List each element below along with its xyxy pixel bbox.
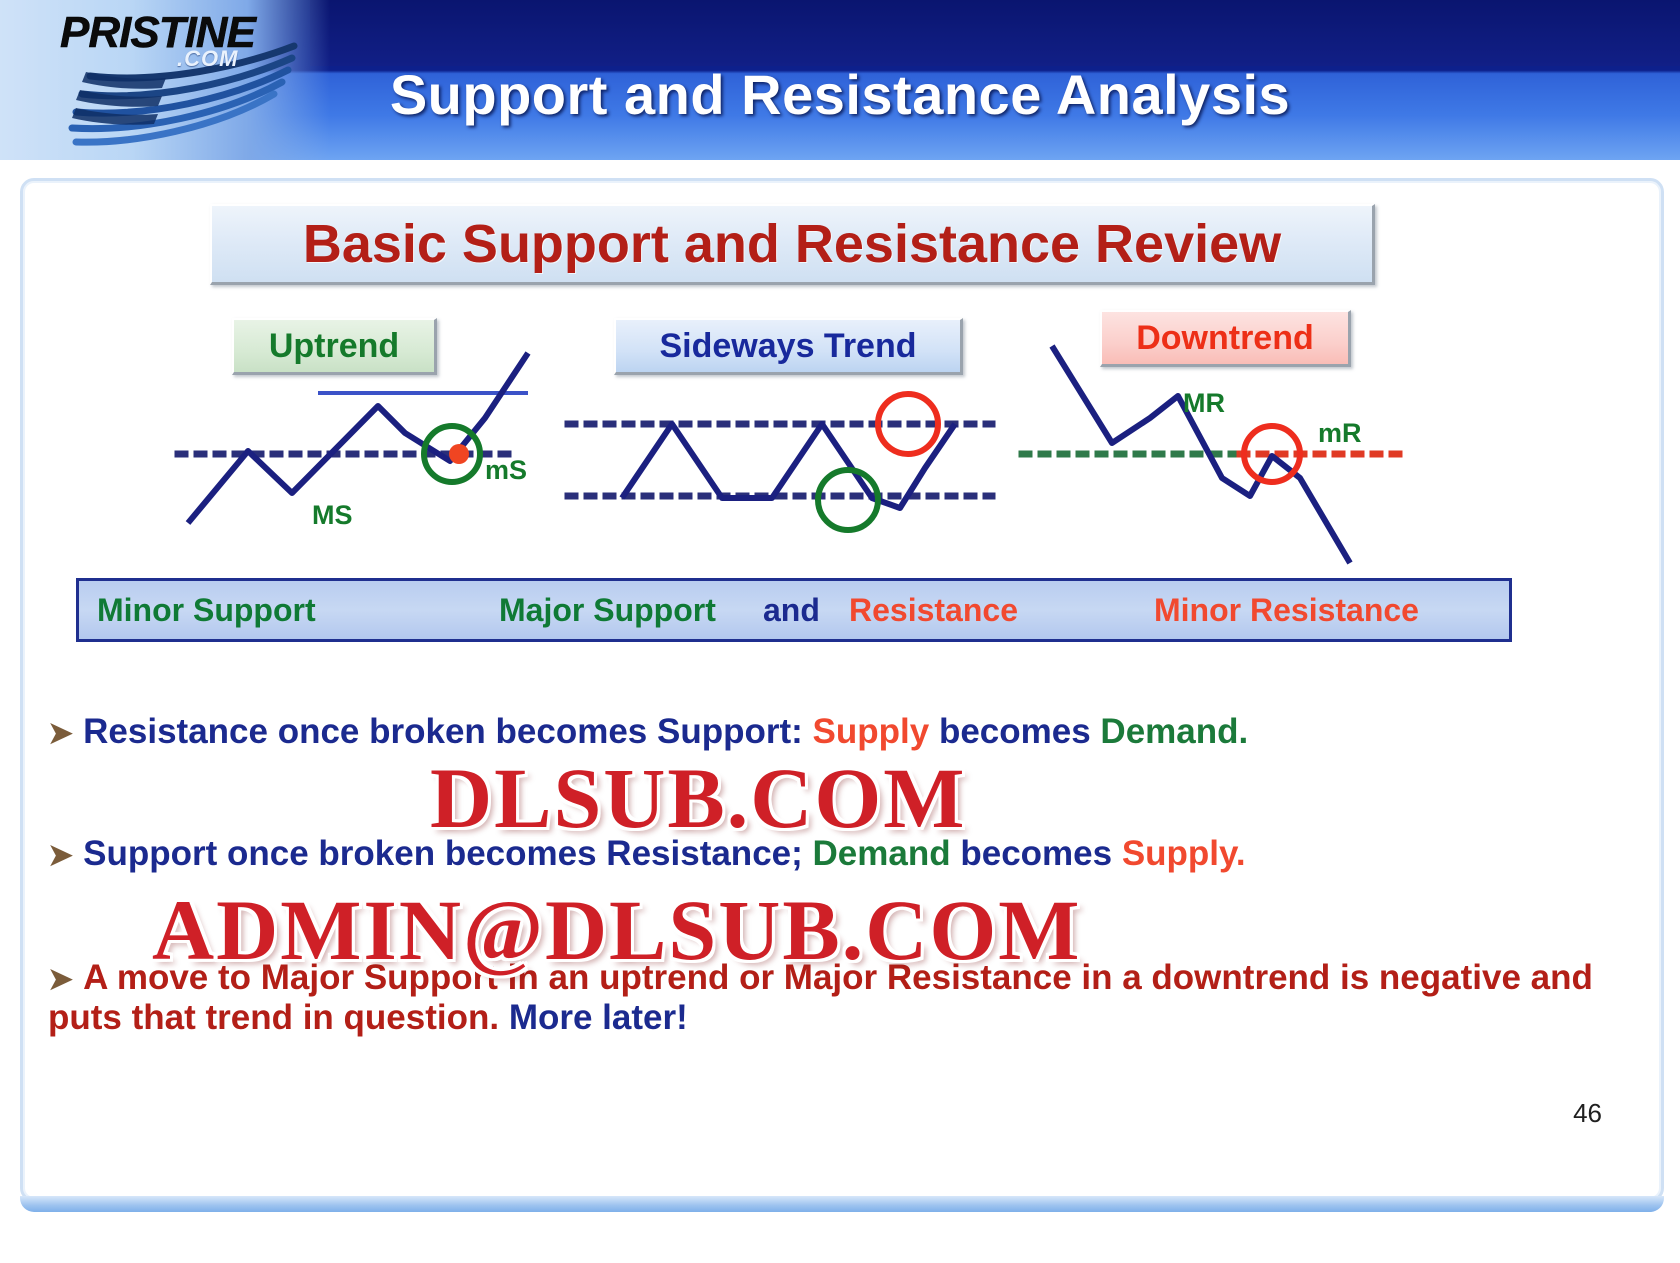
page-number: 46 (1573, 1098, 1602, 1129)
uptrend-chart (178, 353, 528, 523)
label-minor-support: mS (485, 455, 527, 486)
downtrend-chart (1022, 346, 1402, 563)
sideways-bounce-circle-icon (818, 470, 878, 530)
legend-major-support: Major Support (499, 592, 716, 629)
legend-minor-resistance: Minor Resistance (1154, 592, 1419, 629)
bullet-2-text-b: becomes (960, 834, 1112, 873)
uptrend-ms-dot-icon (449, 444, 469, 464)
legend-bar: Minor Support Major Support and Resistan… (76, 578, 1512, 642)
slide-header: PRISTINE .COM Support and Resistance Ana… (0, 0, 1680, 160)
trend-diagrams (0, 178, 1680, 598)
bullet-marker-icon: ➤ (48, 963, 73, 996)
legend-and: and (763, 592, 820, 629)
bullet-1-text-a: Resistance once broken becomes Support: (83, 712, 803, 751)
bullet-1-text-b: becomes (939, 712, 1091, 751)
bullet-marker-icon: ➤ (48, 839, 73, 872)
label-minor-resistance: mR (1318, 418, 1362, 449)
footer-strip (20, 1196, 1664, 1212)
slide: PRISTINE .COM Support and Resistance Ana… (0, 0, 1680, 1263)
bullet-3-more-later: More later! (509, 998, 688, 1037)
bullet-item-1: ➤Resistance once broken becomes Support:… (48, 712, 1248, 752)
sideways-chart (568, 394, 992, 530)
watermark-line-1: DLSUB.COM (430, 748, 966, 848)
page-title: Support and Resistance Analysis (0, 62, 1680, 127)
legend-resistance: Resistance (849, 592, 1018, 629)
legend-minor-support: Minor Support (97, 592, 316, 629)
header-top-bar (310, 0, 1680, 66)
watermark-line-2: ADMIN@DLSUB.COM (152, 880, 1081, 980)
bullet-1-demand: Demand. (1100, 712, 1248, 751)
label-major-support: MS (312, 500, 353, 531)
bullet-1-supply: Supply (813, 712, 930, 751)
bullet-marker-icon: ➤ (48, 717, 73, 750)
bullet-2-supply: Supply. (1122, 834, 1246, 873)
label-major-resistance: MR (1183, 388, 1225, 419)
